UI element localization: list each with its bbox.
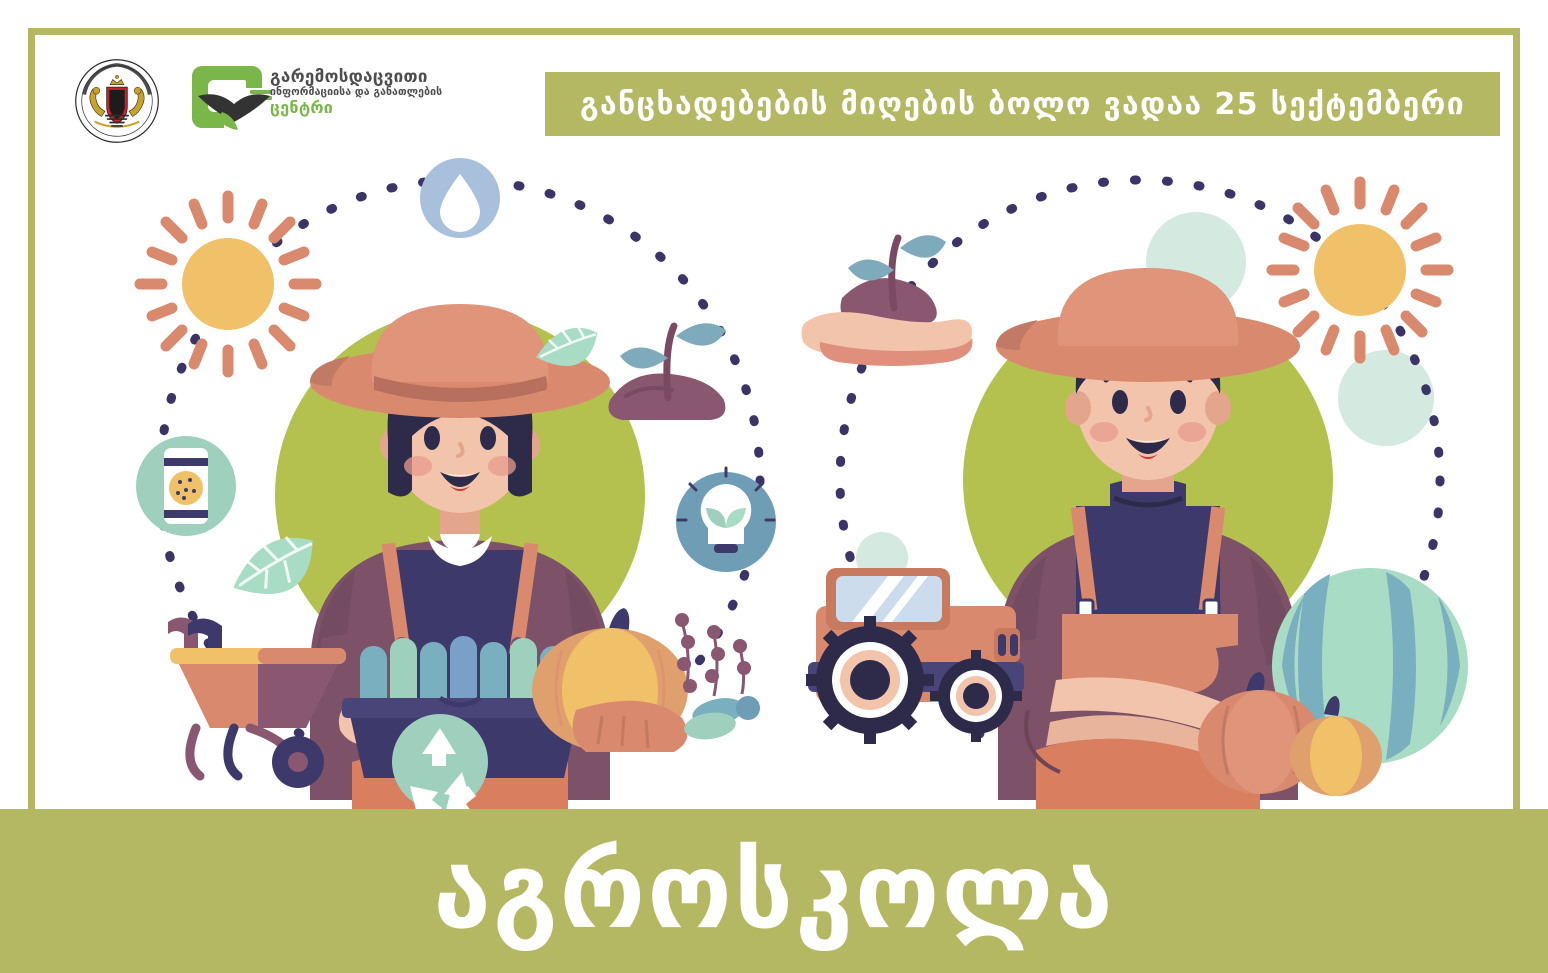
straw-hat-icon [996, 268, 1300, 382]
sun-icon [140, 196, 316, 372]
recycle-icon [392, 714, 488, 810]
tractor-icon [806, 568, 1024, 744]
sprout-in-soil-icon [609, 323, 727, 420]
left-scene-woman-farmer [110, 150, 810, 810]
deadline-banner: განცხადებების მიღების ბოლო ვადაა 25 სექტ… [545, 72, 1500, 136]
poster-main-title: აგროსკოლა [433, 839, 1115, 943]
coat-of-arms-icon [74, 58, 160, 144]
right-scene-man-farmer [790, 150, 1490, 810]
georgian-state-coat-of-arms-emblem [74, 58, 160, 144]
water-drop-icon [420, 158, 500, 238]
sun-icon [1272, 182, 1448, 358]
poster-root: გარემოსდაცვითი ინფორმაციისა და განათლები… [0, 0, 1548, 973]
seed-jar-icon [136, 436, 236, 536]
deadline-banner-text: განცხადებების მიღების ბოლო ვადაა 25 სექტ… [580, 87, 1465, 122]
poster-header: გარემოსდაცვითი ინფორმაციისა და განათლები… [0, 0, 1548, 160]
illustration-stage [0, 150, 1548, 810]
logo-line-3: ცენტრი [270, 99, 450, 117]
logo-text-block: გარემოსდაცვითი ინფორმაციისა და განათლები… [270, 68, 450, 117]
eco-lightbulb-icon [676, 468, 776, 572]
bottom-title-band: აგროსკოლა [0, 809, 1548, 973]
decorative-circle [1338, 350, 1434, 446]
hand-holding-sprout-icon [802, 235, 973, 366]
environmental-center-logo: გარემოსდაცვითი ინფორმაციისა და განათლები… [192, 62, 442, 140]
logo-line-1: გარემოსდაცვითი [270, 68, 450, 87]
